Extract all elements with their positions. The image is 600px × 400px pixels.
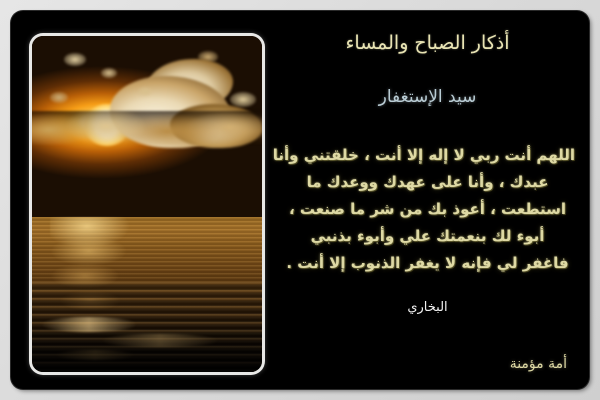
dua-subtitle: سيد الإستغفار — [278, 87, 577, 107]
text-column: أذكار الصباح والمساء سيد الإستغفار اللهم… — [266, 11, 589, 389]
cloud-wisp — [64, 53, 86, 66]
cloud-wisp — [50, 92, 68, 103]
cloud-wisp — [138, 87, 152, 96]
sunset-photo — [32, 36, 262, 372]
dua-line: عبدك ، وأنا على عهدك ووعدك ما — [280, 169, 575, 196]
dua-line: استطعت ، أعوذ بك من شر ما صنعت ، — [280, 196, 575, 223]
dua-line: أبوء لك بنعمتك علي وأبوء بذنبي — [280, 223, 575, 250]
sky-region — [32, 36, 262, 224]
dua-line: فاغفر لي فإنه لا يغفر الذنوب إلا أنت . — [280, 250, 575, 277]
water-region — [32, 217, 262, 372]
water-shadow — [32, 326, 262, 372]
cloud-wisp — [230, 92, 256, 107]
horizon-cloud-bank — [32, 111, 262, 145]
dua-line: اللهم أنت ربي لا إله إلا أنت ، خلقتني وأ… — [280, 142, 575, 169]
photo-frame — [29, 33, 265, 375]
author-signature: أمة مؤمنة — [510, 356, 567, 373]
source-attribution: البخاري — [280, 300, 575, 316]
cloud-wisp — [101, 68, 117, 78]
dua-body: اللهم أنت ربي لا إله إلا أنت ، خلقتني وأ… — [280, 142, 575, 277]
card-root: أذكار الصباح والمساء سيد الإستغفار اللهم… — [0, 0, 600, 400]
page-title: أذكار الصباح والمساء — [278, 32, 577, 55]
black-panel: أذكار الصباح والمساء سيد الإستغفار اللهم… — [11, 11, 589, 389]
